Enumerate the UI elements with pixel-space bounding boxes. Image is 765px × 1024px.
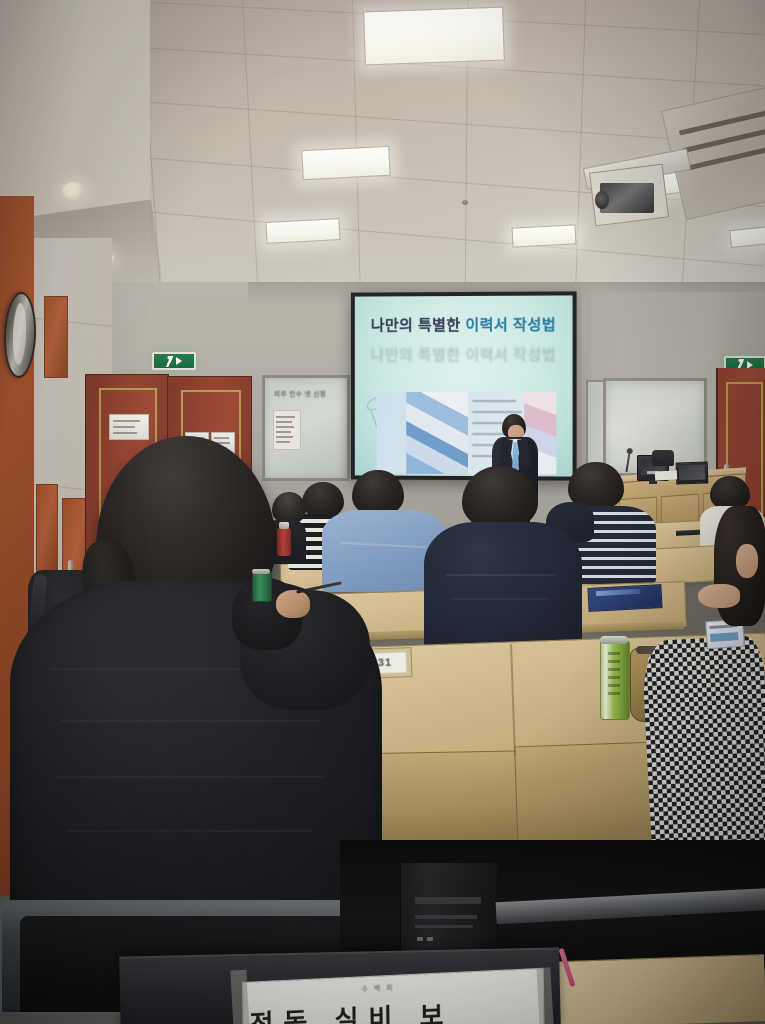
attendee-head — [710, 476, 750, 510]
can-label-text — [608, 652, 620, 696]
folder-blue — [587, 584, 662, 612]
whiteboard-text: 외부 인수 넷 신청 — [274, 388, 341, 398]
ceiling-light-panel — [363, 7, 505, 66]
beverage-can-foreground — [252, 572, 272, 602]
attendee-head — [462, 466, 538, 530]
projector-lens-icon — [595, 191, 609, 209]
wall-accent-panel — [44, 296, 68, 378]
downlight — [62, 182, 84, 200]
folder-foreground: 수 백 회 전동 실비 보 — [119, 947, 561, 1024]
desk-foreground-right — [535, 954, 765, 1024]
foreground-sign: 수 백 회 전동 실비 보 — [242, 968, 544, 1024]
sprinkler-head — [462, 200, 468, 205]
exit-arrow-icon — [176, 357, 182, 365]
attendee-shirt-navy — [424, 522, 582, 654]
ceiling-light-panel — [729, 226, 765, 248]
slide-title-ghost: 나만의 특별한 이력서 작성법 — [355, 344, 573, 365]
tape-strip — [230, 970, 250, 1024]
exit-sign-left — [152, 352, 196, 370]
beverage-can-top — [252, 569, 270, 574]
attendee-face — [736, 544, 758, 578]
beverage-can-top — [600, 636, 628, 644]
ceiling-light-panel — [265, 218, 340, 244]
ceiling-light-panel — [301, 146, 390, 181]
attendee-hand-right — [698, 584, 740, 608]
attendee-hand — [276, 590, 310, 618]
shirt-fold — [446, 574, 556, 576]
shirt-fold — [450, 598, 550, 600]
exit-running-man-icon — [166, 356, 173, 367]
slide-image-left-graphic — [406, 392, 468, 474]
photo-lecture-hall: 외부 인수 넷 신청 나만의 특별한 이력서 작성법 나만의 특별한 이력서 작… — [0, 0, 765, 1024]
slide-title: 나만의 특별한 이력서 작성법 — [355, 314, 573, 336]
clock-face — [12, 303, 27, 365]
ceiling-light-panel — [512, 224, 577, 247]
tape-strip — [536, 967, 554, 1024]
lectern-paper — [655, 470, 677, 480]
slide-title-highlight: 이력서 작성법 — [465, 317, 556, 334]
slide-title-part1: 나만의 특별한 — [371, 317, 466, 334]
attendee-navy-center — [424, 466, 584, 654]
